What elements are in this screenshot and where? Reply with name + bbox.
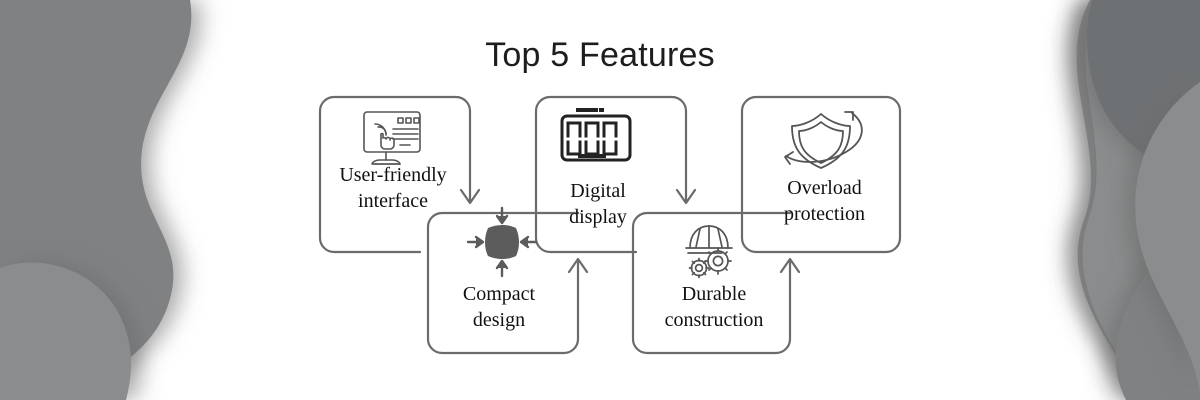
card-label-compact-design: Compact design <box>425 281 573 333</box>
card-label-overload-protection: Overload protection <box>742 175 907 227</box>
touchscreen-monitor-icon <box>364 112 420 164</box>
card-label-digital-display: Digital display <box>533 178 663 230</box>
shield-orbit-icon <box>785 112 862 168</box>
card-label-durable-construction: Durable construction <box>630 281 798 333</box>
compress-arrows-icon <box>468 208 536 276</box>
hardhat-gears-icon <box>686 226 732 278</box>
seven-segment-display-icon <box>562 110 630 160</box>
infographic-canvas: Top 5 Features <box>0 0 1200 400</box>
card-label-user-friendly-interface: User-friendly interface <box>318 162 468 214</box>
